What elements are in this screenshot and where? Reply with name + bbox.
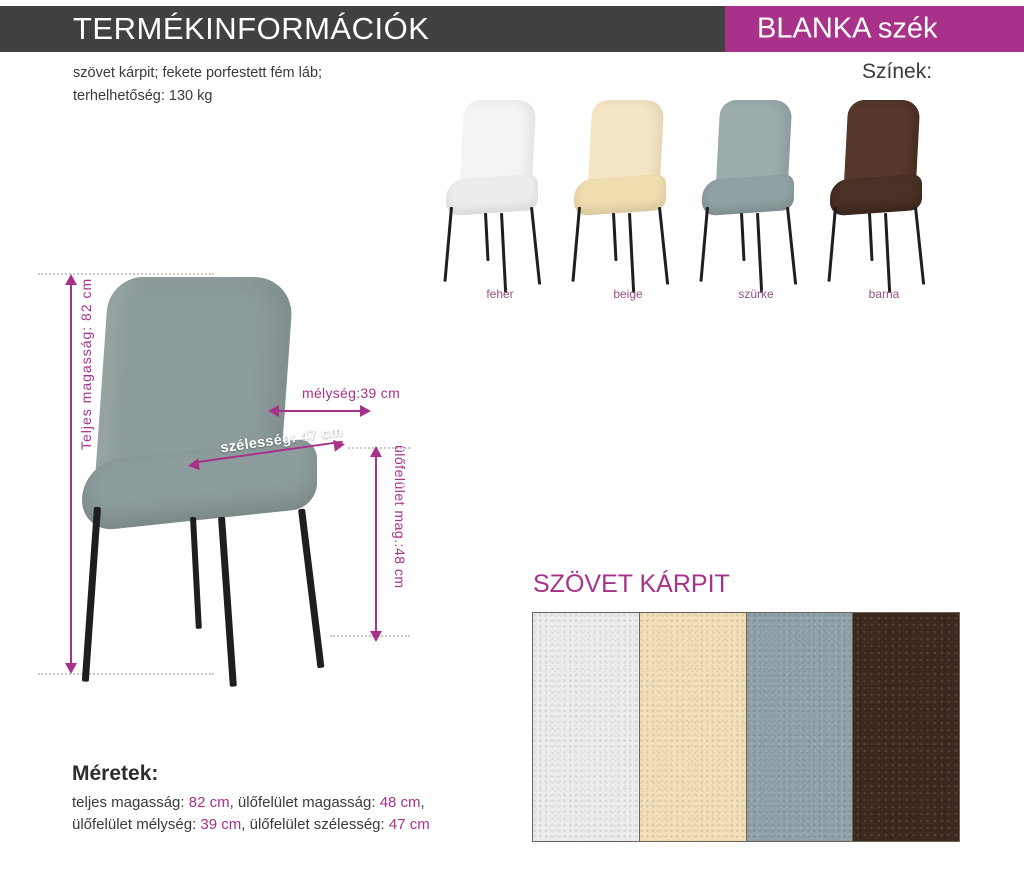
dimension-diagram: Teljes magasság: 82 cm ülőfelület mag.:4… (30, 265, 430, 685)
colors-heading: Színek: (862, 60, 932, 84)
product-description: szövet kárpit; fekete porfestett fém láb… (73, 62, 322, 108)
chair-leg (740, 213, 746, 261)
chair-leg (658, 207, 670, 285)
dimensions-row-1: teljes magasság: 82 cm, ülőfelület magas… (72, 792, 430, 814)
chair-seat (830, 174, 922, 216)
page-header: TERMÉKINFORMÁCIÓK BLANKA szék (0, 6, 1024, 52)
fabric-swatch-panel (532, 612, 960, 842)
description-line-1: szövet kárpit; fekete porfestett fém láb… (73, 62, 322, 85)
seat-height-arrow-bottom (370, 631, 382, 642)
chair-leg (443, 207, 453, 282)
fabric-swatch-barna[interactable] (852, 613, 959, 841)
total-height-arrow-top (65, 274, 77, 285)
color-option-fehér[interactable]: fehér (440, 95, 560, 310)
dimensions-title: Méretek: (72, 762, 430, 786)
chair-leg (484, 213, 490, 261)
chair-leg-front-right (218, 517, 236, 687)
width-arrow-left (187, 458, 200, 471)
seat-depth-text: ülőfelület mélység: (72, 816, 200, 833)
chair-leg (571, 207, 581, 282)
chair-thumbnail-icon (824, 95, 944, 280)
seat-width-value: 47 cm (389, 816, 430, 833)
chair-leg (500, 213, 508, 293)
chair-leg (628, 213, 636, 293)
seat-width-text: , ülőfelület szélesség: (241, 816, 389, 833)
product-name: BLANKA szék (757, 13, 938, 46)
chair-leg (914, 207, 926, 285)
chair-thumbnail-icon (568, 95, 688, 280)
chair-thumbnail-icon (696, 95, 816, 280)
seat-height-arrow-line (375, 455, 377, 633)
chair-leg (756, 213, 764, 293)
color-option-szürke[interactable]: szürke (696, 95, 816, 310)
fabric-swatch-beige[interactable] (639, 613, 746, 841)
description-line-2: terhelhetőség: 130 kg (73, 85, 322, 108)
color-swatch-gallery: fehér beige szürke (440, 95, 1000, 310)
color-option-label: szürke (696, 287, 816, 301)
chair-leg-rear-right (298, 509, 324, 669)
chair-leg (699, 207, 709, 282)
seat-depth-value: 39 cm (200, 816, 241, 833)
chair-thumbnail-icon (440, 95, 560, 280)
depth-arrow-line (278, 410, 364, 412)
seat-height-label: ülőfelület mag.:48 cm (392, 445, 408, 589)
chair-leg-front-left (82, 507, 101, 682)
chair-leg (612, 213, 618, 261)
fabric-swatch-fehér[interactable] (533, 613, 639, 841)
depth-label: mélység:39 cm (302, 385, 400, 401)
page-title: TERMÉKINFORMÁCIÓK (73, 11, 429, 47)
fabric-section-title: SZÖVET KÁRPIT (533, 570, 730, 599)
chair-seat (446, 174, 538, 216)
total-height-arrow-line (70, 283, 72, 665)
total-height-arrow-bottom (65, 663, 77, 674)
color-option-label: barna (824, 287, 944, 301)
chair-seat (702, 174, 794, 216)
depth-arrow-left (268, 405, 279, 417)
color-option-label: fehér (440, 287, 560, 301)
chair-seat (574, 174, 666, 216)
row1-comma: , (421, 794, 425, 811)
chair-leg (884, 213, 892, 293)
color-option-beige[interactable]: beige (568, 95, 688, 310)
chair-leg (786, 207, 798, 285)
chair-leg (530, 207, 542, 285)
dimensions-summary: Méretek: teljes magasság: 82 cm, ülőfelü… (72, 762, 430, 836)
dimensions-row-2: ülőfelület mélység: 39 cm, ülőfelület sz… (72, 814, 430, 836)
seat-height-text: , ülőfelület magasság: (230, 794, 380, 811)
chair-leg (868, 213, 874, 261)
total-height-label: Teljes magasság: 82 cm (78, 278, 94, 450)
color-option-label: beige (568, 287, 688, 301)
seat-height-arrow-top (370, 446, 382, 457)
chair-leg (827, 207, 837, 282)
total-height-value: 82 cm (189, 794, 230, 811)
total-height-text: teljes magasság: (72, 794, 189, 811)
chair-leg-rear-left (190, 517, 202, 629)
depth-arrow-right (360, 405, 371, 417)
fabric-swatch-szürke[interactable] (746, 613, 853, 841)
chair-illustration (70, 275, 360, 675)
seat-height-value: 48 cm (380, 794, 421, 811)
color-option-barna[interactable]: barna (824, 95, 944, 310)
